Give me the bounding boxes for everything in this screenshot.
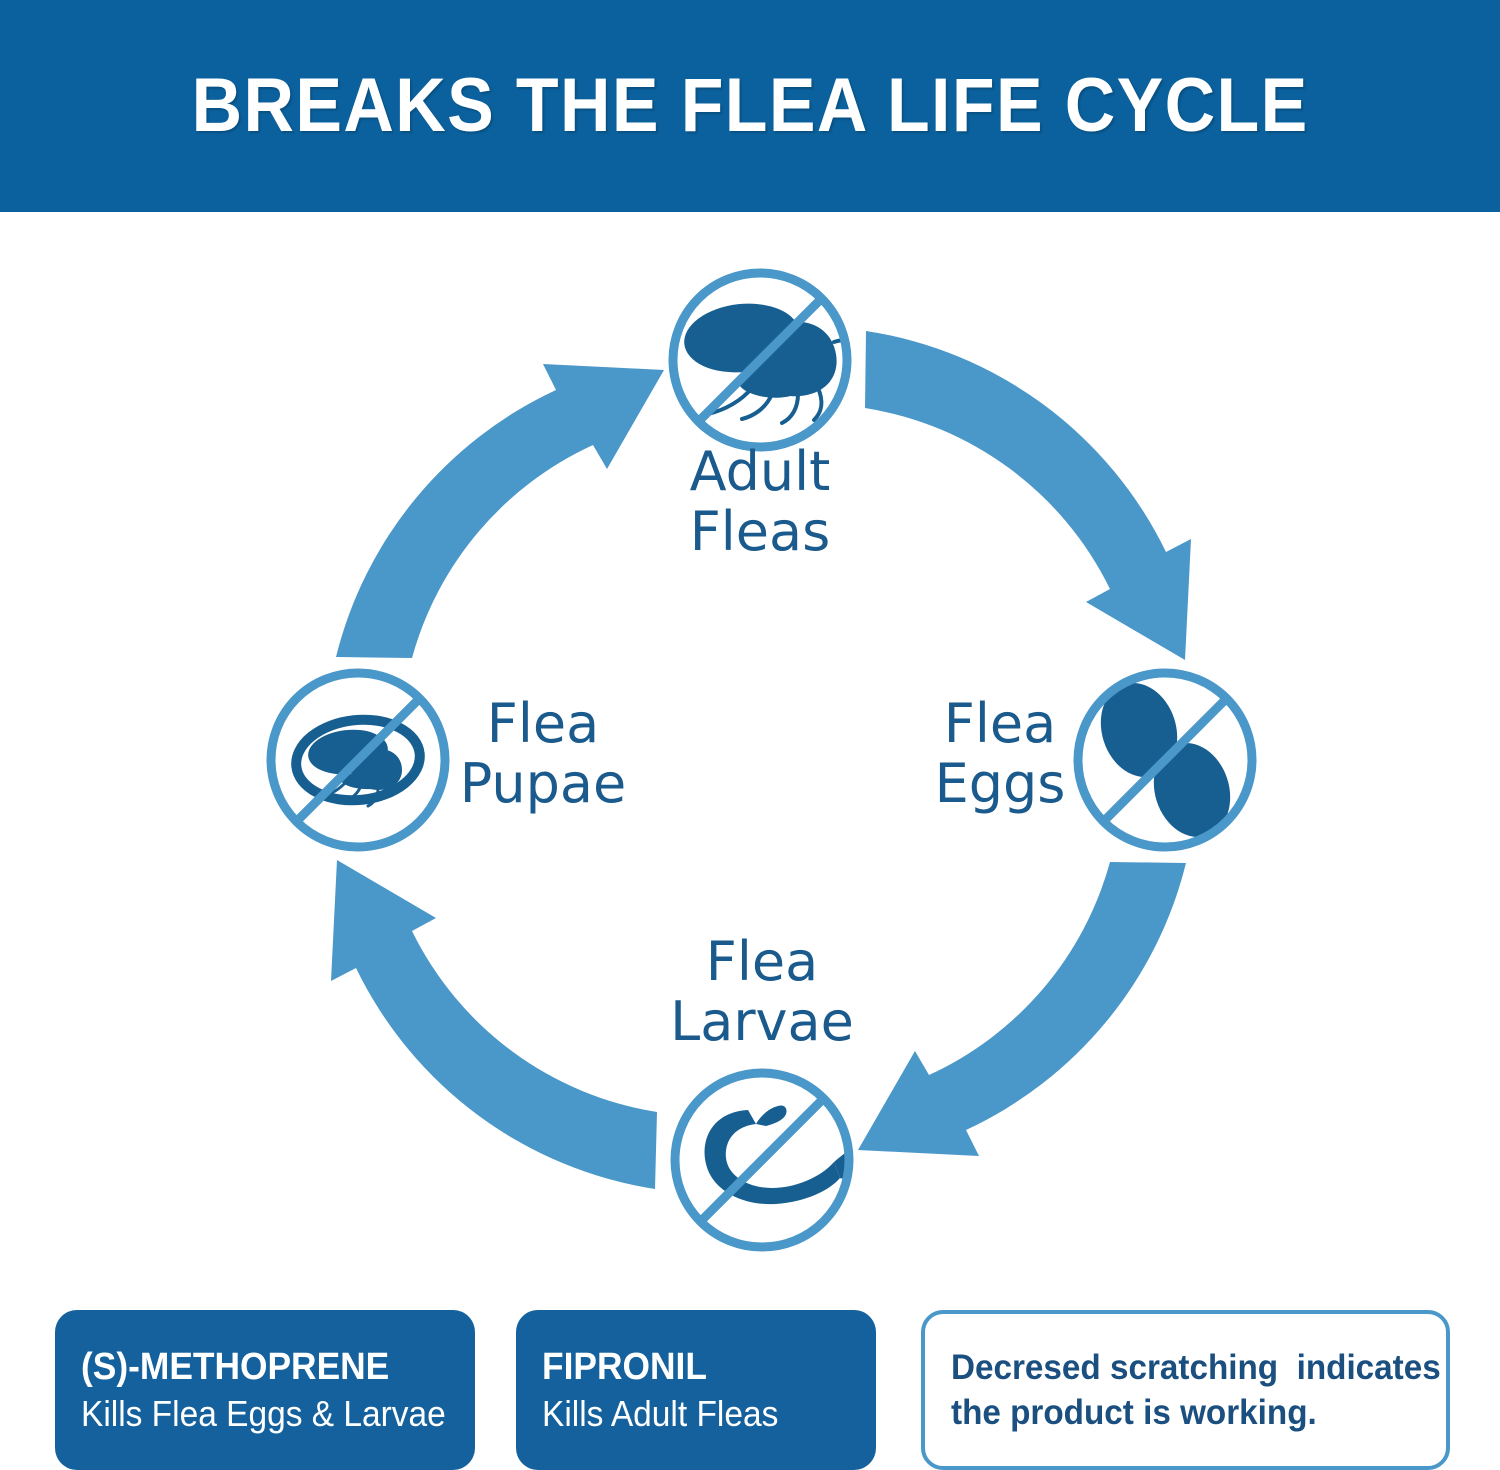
stage-label-adult-fleas-line2: Fleas	[690, 500, 831, 563]
no-adult-flea-icon	[673, 273, 856, 447]
stage-adult-fleas[interactable]: Adult Fleas	[673, 273, 856, 563]
no-flea-eggs-icon	[1078, 673, 1252, 847]
stage-label-flea-pupae-line1: Flea	[487, 692, 599, 755]
stage-label-flea-eggs-line2: Eggs	[935, 752, 1066, 815]
no-flea-pupae-icon	[271, 673, 445, 847]
no-flea-larvae-icon	[675, 1073, 894, 1247]
callout-note-line1: Decresed scratching indicates	[951, 1345, 1397, 1391]
callout-fipronil-subtitle: Kills Adult Fleas	[542, 1393, 828, 1434]
page-title: BREAKS THE FLEA LIFE CYCLE	[191, 68, 1308, 144]
callout-fipronil-title: FIPRONIL	[542, 1346, 828, 1389]
stage-flea-larvae[interactable]: Flea Larvae	[670, 930, 893, 1247]
callout-box-note[interactable]: Decresed scratching indicates the produc…	[921, 1310, 1450, 1470]
callout-note-line2: the product is working.	[951, 1390, 1397, 1436]
callout-box-fipronil[interactable]: FIPRONIL Kills Adult Fleas	[516, 1310, 876, 1470]
stage-flea-pupae[interactable]: Flea Pupae	[271, 673, 626, 847]
arrow-adult-to-eggs	[865, 331, 1191, 660]
stage-label-flea-larvae-line1: Flea	[706, 930, 818, 993]
arrow-pupae-to-adult	[336, 364, 664, 658]
ingredient-callout-bar: (S)-METHOPRENE Kills Flea Eggs & Larvae …	[0, 1300, 1500, 1451]
stage-label-flea-larvae-line2: Larvae	[670, 990, 854, 1053]
cycle-svg: Adult Fleas Flea Eggs	[0, 212, 1500, 1292]
arrow-eggs-to-larvae	[858, 862, 1186, 1156]
callout-methoprene-subtitle: Kills Flea Eggs & Larvae	[81, 1393, 423, 1434]
callout-box-methoprene[interactable]: (S)-METHOPRENE Kills Flea Eggs & Larvae	[55, 1310, 475, 1470]
stage-flea-eggs[interactable]: Flea Eggs	[935, 673, 1252, 847]
stage-label-adult-fleas-line1: Adult	[690, 440, 831, 503]
callout-methoprene-title: (S)-METHOPRENE	[81, 1346, 423, 1389]
stage-label-flea-eggs-line1: Flea	[944, 692, 1056, 755]
arrow-larvae-to-pupae	[331, 860, 657, 1189]
header-banner: BREAKS THE FLEA LIFE CYCLE	[0, 0, 1500, 212]
stage-label-flea-pupae-line2: Pupae	[460, 752, 626, 815]
flea-life-cycle-diagram: Adult Fleas Flea Eggs	[0, 212, 1500, 1292]
